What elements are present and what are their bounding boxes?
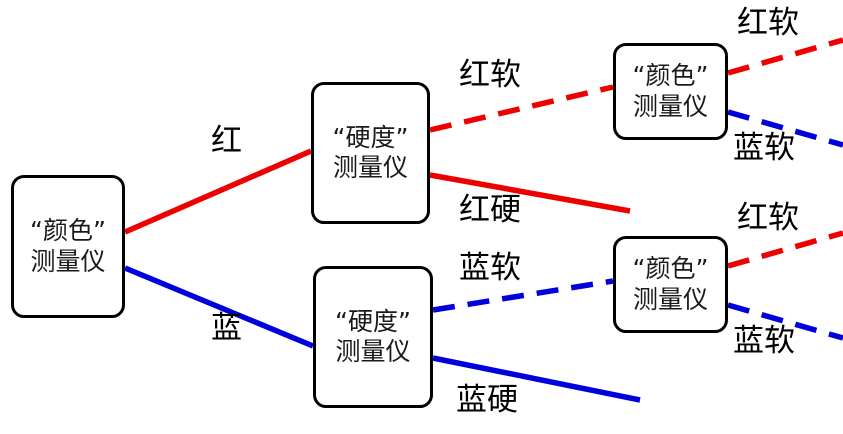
edge-label-blue-hard-mid: 蓝硬 bbox=[456, 385, 518, 416]
device-box-label-2: 测量仪 bbox=[335, 337, 410, 368]
edge-label-red-soft-mid: 红软 bbox=[459, 60, 521, 91]
edge-red-soft-mid bbox=[430, 87, 613, 130]
edge-red-soft-bot bbox=[728, 233, 843, 266]
edge-label-red-hard-mid: 红硬 bbox=[459, 195, 521, 226]
edge-label-blue-soft-top: 蓝软 bbox=[733, 133, 795, 164]
device-box-label-2: 测量仪 bbox=[633, 92, 708, 123]
edge-label-blue: 蓝 bbox=[211, 313, 242, 344]
device-box-label-2: 测量仪 bbox=[30, 247, 105, 278]
device-box-label-1: “颜色” bbox=[633, 254, 709, 285]
device-box-label-1: “颜色” bbox=[633, 61, 709, 92]
device-box-color-1[interactable]: “颜色”测量仪 bbox=[11, 175, 125, 318]
edge-label-blue-soft-mid: 蓝软 bbox=[459, 253, 521, 284]
edge-red-in bbox=[125, 151, 311, 232]
device-box-hardness-top[interactable]: “硬度”测量仪 bbox=[311, 82, 430, 224]
edge-label-red-soft-bot: 红软 bbox=[737, 203, 799, 234]
edge-red-soft-top bbox=[728, 40, 843, 73]
edge-label-red-soft-top: 红软 bbox=[737, 8, 799, 39]
device-box-label-1: “硬度” bbox=[333, 123, 409, 154]
device-box-label-1: “颜色” bbox=[30, 216, 106, 247]
device-box-color-bottom[interactable]: “颜色”测量仪 bbox=[613, 236, 728, 333]
edge-label-blue-soft-bot: 蓝软 bbox=[733, 326, 795, 357]
measurement-tree-diagram: “颜色”测量仪“硬度”测量仪“硬度”测量仪“颜色”测量仪“颜色”测量仪红蓝红软红… bbox=[0, 0, 843, 434]
device-box-label-1: “硬度” bbox=[335, 307, 411, 338]
device-box-color-top[interactable]: “颜色”测量仪 bbox=[613, 43, 728, 140]
edge-label-red: 红 bbox=[211, 126, 242, 157]
device-box-hardness-bottom[interactable]: “硬度”测量仪 bbox=[313, 266, 433, 408]
device-box-label-2: 测量仪 bbox=[633, 285, 708, 316]
device-box-label-2: 测量仪 bbox=[333, 153, 408, 184]
